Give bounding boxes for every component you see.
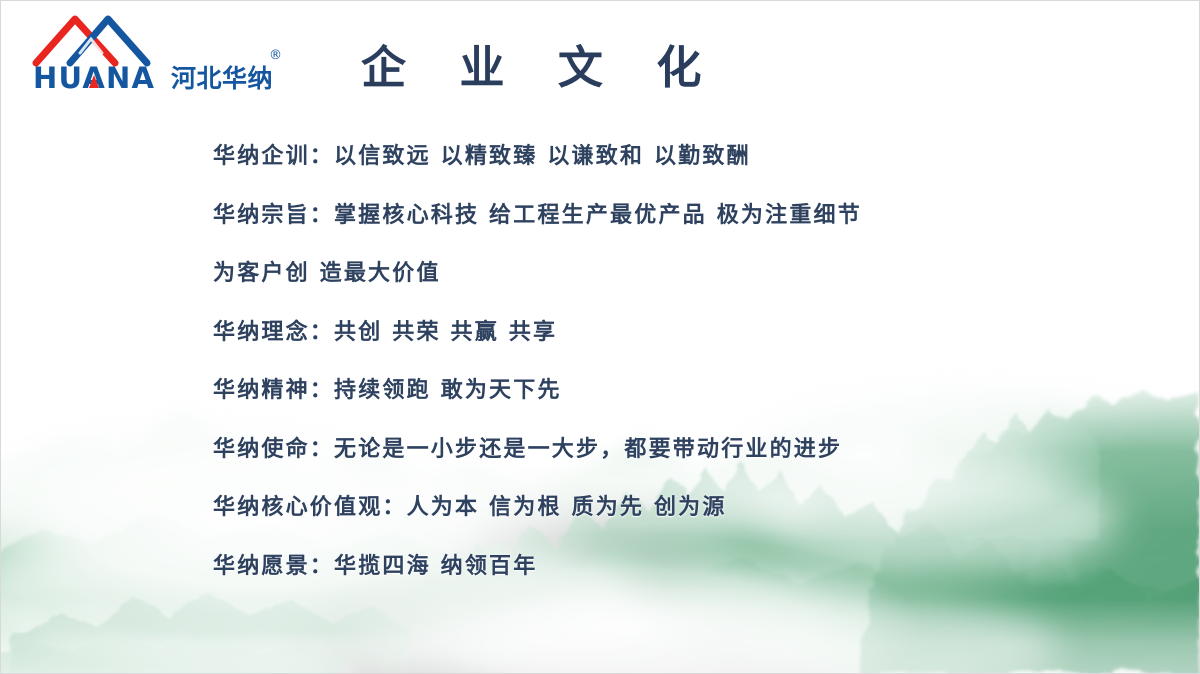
logo-registered-mark-icon: ® [269,48,282,63]
culture-text-block: 华纳企训：以信致远 以精致臻 以谦致和 以勤致酬 华纳宗旨：掌握核心科技 给工程… [213,127,1163,595]
culture-line-jingshen: 华纳精神：持续领跑 敢为天下先 [213,361,1163,420]
culture-line-zongzhi-2: 为客户创 造最大价值 [213,244,1163,303]
culture-line-qixun: 华纳企训：以信致远 以精致臻 以谦致和 以勤致酬 [213,127,1163,186]
culture-line-jiazhiguan: 华纳核心价值观：人为本 信为根 质为先 创为源 [213,478,1163,537]
culture-line-shiming: 华纳使命：无论是一小步还是一大步，都要带动行业的进步 [213,420,1163,479]
culture-line-linian: 华纳理念：共创 共荣 共赢 共享 [213,303,1163,362]
culture-line-yuanjing: 华纳愿景：华揽四海 纳领百年 [213,537,1163,596]
page-title: 企 业 文 化 [361,31,720,96]
culture-line-zongzhi: 华纳宗旨：掌握核心科技 给工程生产最优产品 极为注重细节 [213,186,1163,245]
company-logo: HUANA 河北华纳 ® [23,9,283,95]
logo-chinese-name: 河北华纳 [171,64,273,93]
slide-canvas: HUANA 河北华纳 ® 企 业 文 化 华纳企训：以信致远 以精致臻 以谦致和… [0,0,1200,674]
